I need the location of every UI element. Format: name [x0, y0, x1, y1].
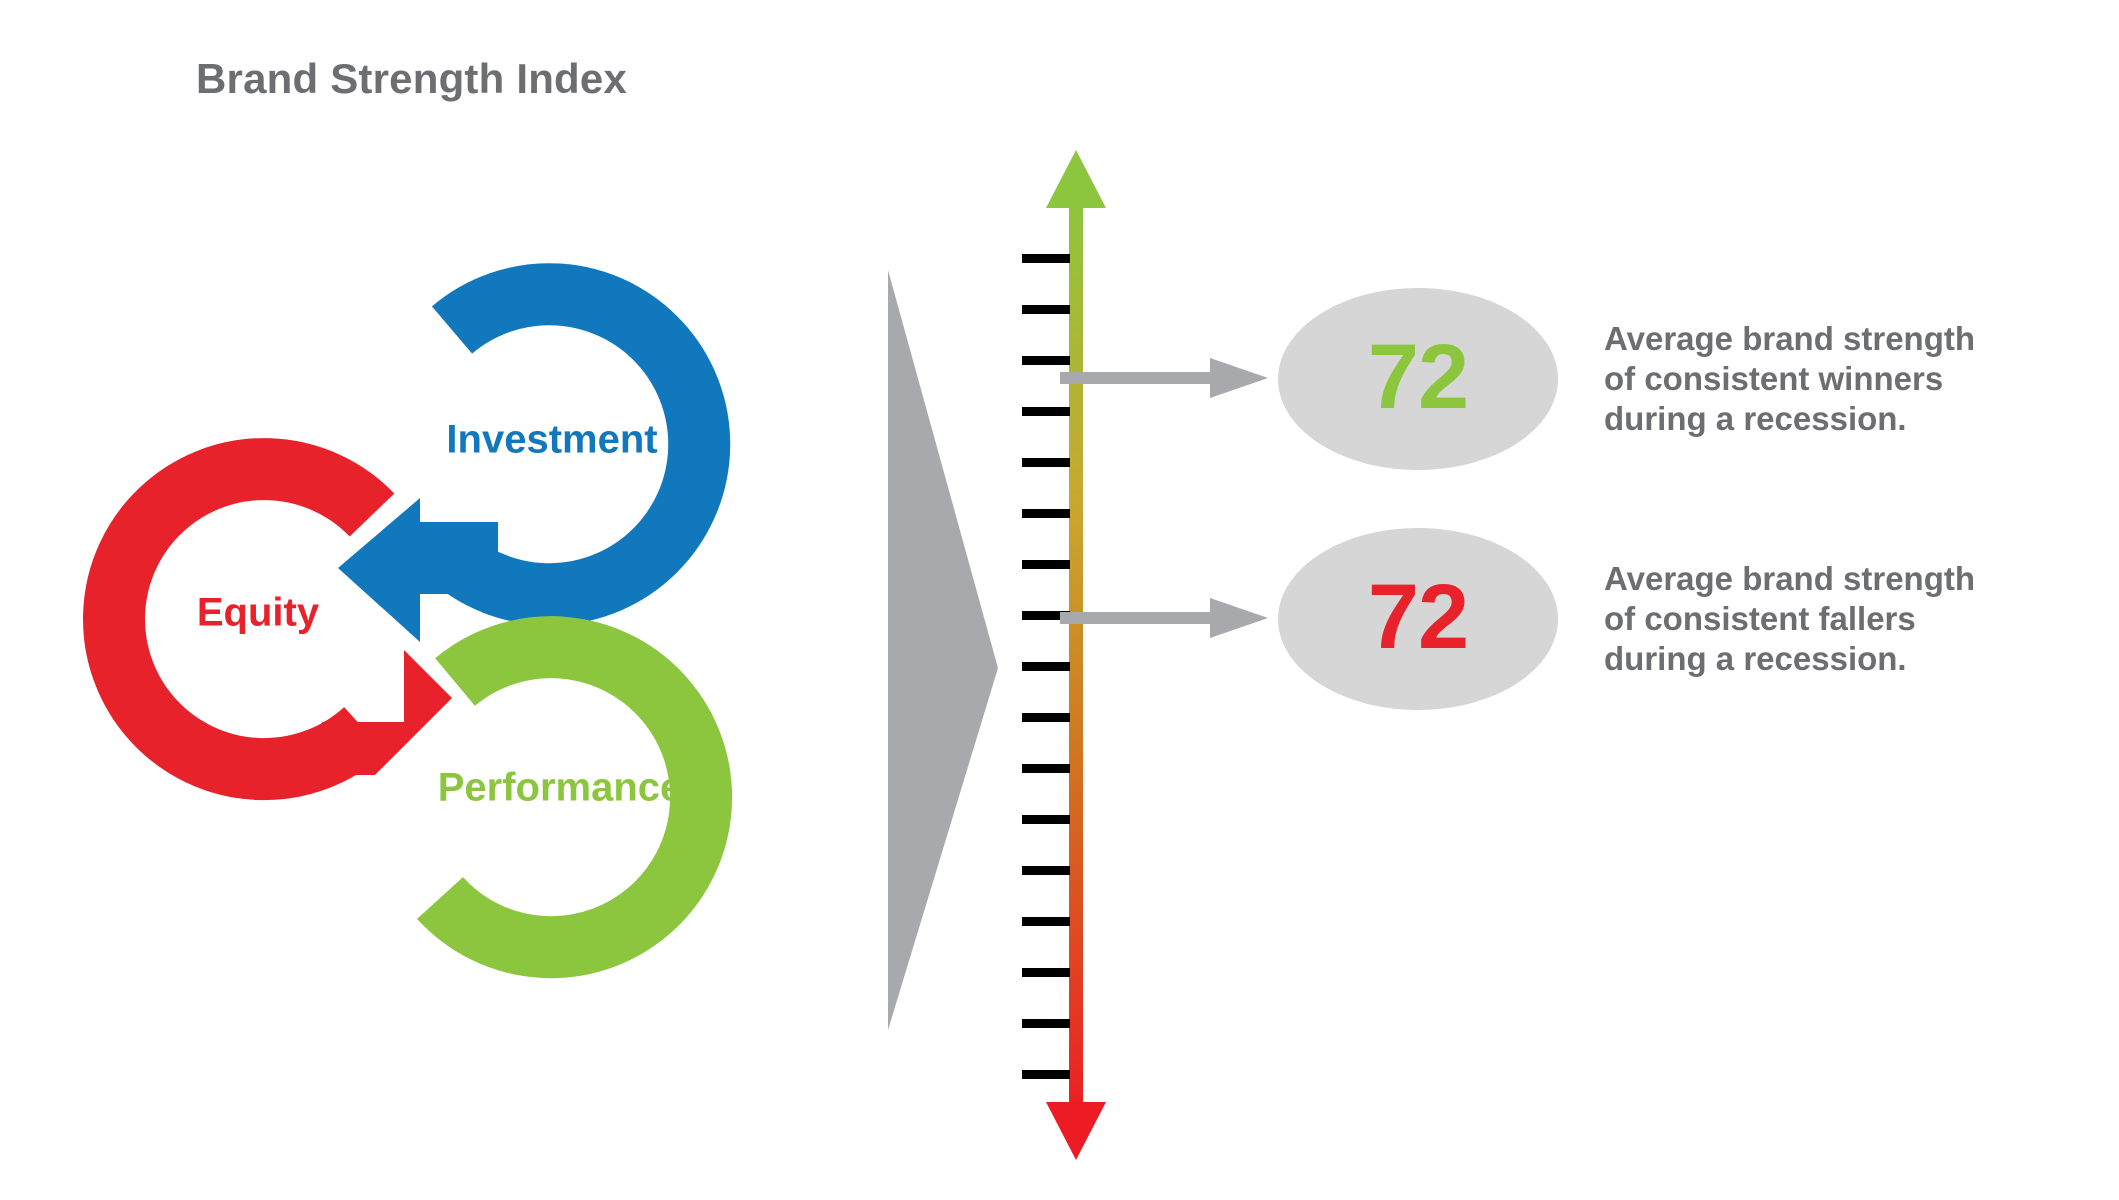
callout-text-fallers: Average brand strength of consistent fal…: [1604, 559, 1975, 680]
connector-arrow-winners: [1060, 358, 1268, 398]
funnel-pointer-icon: [880, 270, 1020, 1030]
investment-ring: Investment: [338, 294, 699, 642]
performance-label: Performance: [438, 766, 683, 810]
callout-text-winners: Average brand strength of consistent win…: [1604, 319, 1975, 440]
callout-fallers: 72 Average brand strength of consistent …: [1278, 528, 1975, 710]
value-fallers: 72: [1368, 571, 1468, 663]
brand-cycle-diagram: Equity Investment Performance: [0, 130, 1020, 1160]
infographic-canvas: Brand Strength Index Equity Investment P…: [0, 0, 2119, 1200]
connector-arrow-fallers: [1060, 598, 1268, 638]
value-bubble-winners: 72: [1278, 288, 1558, 470]
page-title: Brand Strength Index: [196, 55, 627, 103]
axis-up-arrowhead: [1046, 150, 1106, 208]
value-winners: 72: [1368, 331, 1468, 423]
equity-label: Equity: [197, 591, 320, 635]
performance-ring: Performance: [438, 647, 701, 947]
value-bubble-fallers: 72: [1278, 528, 1558, 710]
investment-label: Investment: [446, 418, 657, 462]
axis-down-arrowhead: [1046, 1102, 1106, 1160]
callout-winners: 72 Average brand strength of consistent …: [1278, 288, 1975, 470]
